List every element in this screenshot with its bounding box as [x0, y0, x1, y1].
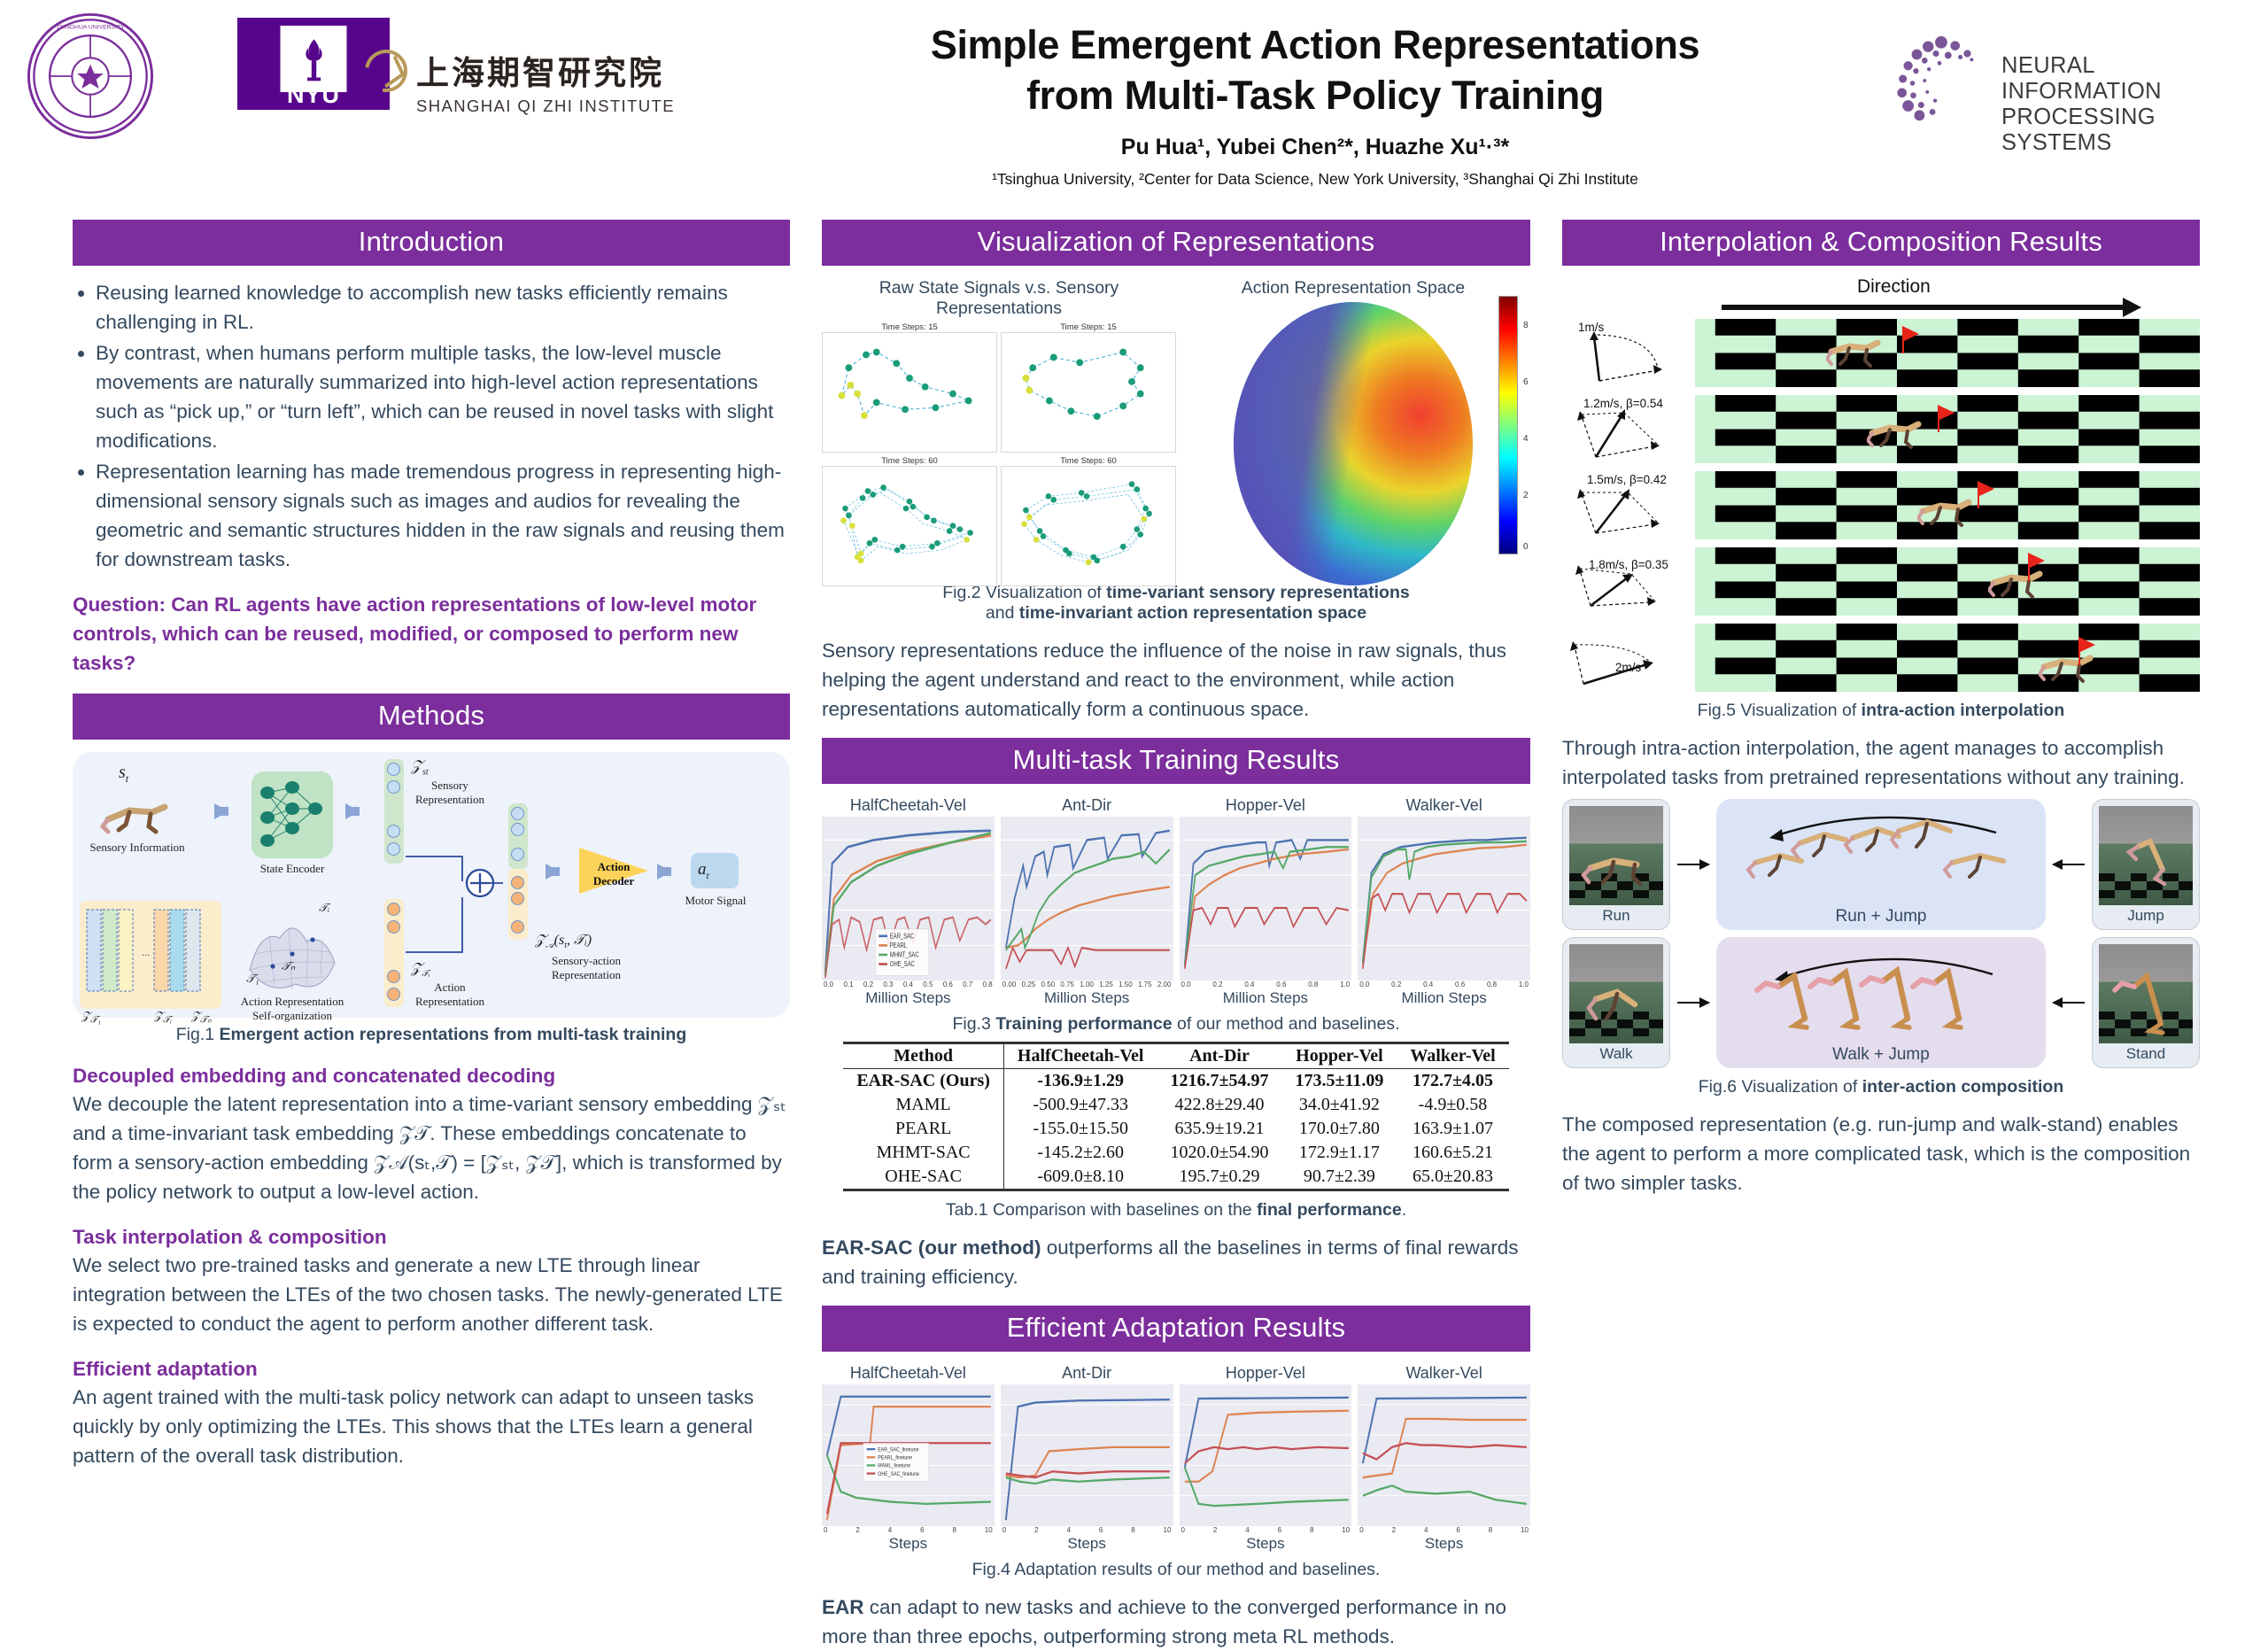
research-question: Question: Can RL agents have action repr…: [73, 590, 790, 678]
composition-arrow-right: [1677, 1002, 1709, 1004]
fig3-chart-row: HalfCheetah-Vel: [822, 796, 1530, 1007]
cheetah-icon: [99, 789, 175, 835]
composition-arrow-left: [2053, 864, 2085, 865]
interpolation-row: 1.2m/s, β=0.54: [1562, 395, 2200, 463]
affiliation-list: ¹Tsinghua University, ²Center for Data S…: [797, 170, 1833, 189]
cheetah-scene: [1695, 319, 2200, 387]
cell-value: -136.9±1.29: [1003, 1069, 1157, 1094]
section-heading-multitask: Multi-task Training Results: [822, 738, 1530, 784]
tick: 10: [985, 1526, 993, 1534]
fig1-state-label: st: [119, 763, 128, 786]
mini-plot-title: Time Steps: 15: [822, 322, 997, 332]
cell-method: OHE-SAC: [843, 1165, 1003, 1190]
tick: 0.8: [1308, 981, 1318, 988]
colorbar-tick: 0: [1523, 542, 1529, 552]
composition-label: Jump: [2099, 907, 2193, 925]
fig1-z-ti-label: 𝒵𝒯ᵢ: [154, 1009, 172, 1027]
interpolation-row: 1.8m/s, β=0.35: [1562, 547, 2200, 616]
mini-plot: [1001, 466, 1176, 586]
tick: 0: [1181, 1526, 1185, 1534]
fig3-panel-title: Hopper-Vel: [1180, 796, 1352, 815]
subsection-title-interpolation: Task interpolation & composition: [73, 1226, 790, 1249]
fig4-chart-row: HalfCheetah-Vel: [822, 1364, 1530, 1553]
introduction-bullets: Reusing learned knowledge to accomplish …: [73, 278, 790, 574]
velocity-label: 1.5m/s, β=0.42: [1587, 473, 1667, 486]
fig1-manifold-icon: [243, 908, 342, 1004]
neurips-line2: PROCESSING SYSTEMS: [2001, 105, 2241, 156]
fig3-xticks: 0.00 0.25 0.50 0.75 1.00 1.25 1.50 1.75 …: [1001, 981, 1173, 988]
tick: 6: [920, 1526, 924, 1534]
tick: 10: [1164, 1526, 1172, 1534]
neurips-wordmark: NEURAL INFORMATION PROCESSING SYSTEMS: [2001, 53, 2241, 156]
jump-thumbnail: [2099, 806, 2193, 905]
neurips-swirl-icon: [1886, 28, 1993, 133]
fig1-tn-label: 𝒯ₙ: [282, 959, 295, 973]
tick: 0: [824, 1526, 827, 1534]
tick: 0.0: [1359, 981, 1369, 988]
author-list: Pu Hua¹, Yubei Chen²*, Huazhe Xu¹·³*: [797, 135, 1833, 160]
cell-value: 170.0±7.80: [1281, 1117, 1397, 1141]
action-representation-sphere: [1234, 302, 1473, 585]
adaptation-paragraph-rest: can adapt to new tasks and achieve to th…: [822, 1596, 1506, 1647]
composition-row: Walk: [1562, 937, 2200, 1068]
svg-text:MHMT_SAC: MHMT_SAC: [890, 952, 919, 959]
fig1-caption-bold: Emergent action representations from mul…: [220, 1025, 687, 1044]
tick: 6: [1456, 1526, 1459, 1534]
tick: 4: [1245, 1526, 1249, 1534]
section-heading-introduction: Introduction: [73, 220, 790, 266]
tick: 10: [1521, 1526, 1529, 1534]
poster-header: · TSINGHUA UNIVERSITY · NYU 上海期智研究院 SHAN…: [0, 0, 2268, 220]
goal-flag-icon: [1938, 405, 1955, 421]
tab1-caption: Tab.1 Comparison with baselines on the f…: [822, 1200, 1530, 1221]
cell-value: 172.9±1.17: [1281, 1141, 1397, 1165]
tab1-caption-suffix: .: [1402, 1200, 1406, 1220]
interpolation-row: 1m/s: [1562, 319, 2200, 387]
visualization-paragraph: Sensory representations reduce the influ…: [822, 636, 1530, 724]
mini-plot-title: Time Steps: 60: [1001, 456, 1176, 466]
velocity-vector-diagram: 1.5m/s, β=0.42: [1562, 471, 1695, 539]
svg-text:EAR_SAC_finetune: EAR_SAC_finetune: [878, 1447, 918, 1453]
fig5-caption-bold: intra-action interpolation: [1862, 701, 2065, 720]
tick: 2: [1034, 1526, 1038, 1534]
tick: 0.2: [1391, 981, 1401, 988]
fig3-xticks: 0.0 0.2 0.4 0.6 0.8 1.0: [1180, 981, 1352, 988]
cell-value: -155.0±15.50: [1003, 1117, 1157, 1141]
fig3-panel-title: Walker-Vel: [1358, 796, 1530, 815]
vector-arc-icon: [1562, 624, 1695, 692]
fig1-z-st-label: 𝒵st: [411, 757, 429, 777]
tick: 4: [1424, 1526, 1428, 1534]
fig3-panel-title: HalfCheetah-Vel: [822, 796, 995, 815]
cell-value: 1020.0±54.90: [1157, 1141, 1281, 1165]
cheetah-stand-icon: [2099, 944, 2193, 1043]
adaptation-paragraph-bold: EAR: [822, 1596, 864, 1618]
tick: 0.6: [1455, 981, 1465, 988]
fig4-plot: [1358, 1384, 1530, 1526]
fig4-xlabel: Steps: [822, 1535, 995, 1553]
cell-value: 163.9±1.07: [1397, 1117, 1508, 1141]
subsection-title-decoupled: Decoupled embedding and concatenated dec…: [73, 1065, 790, 1088]
fig6-caption-prefix: Fig.6 Visualization of: [1699, 1077, 1862, 1097]
fig4-panel-title: Walker-Vel: [1358, 1364, 1530, 1383]
tick: 1.0: [1340, 981, 1350, 988]
fig1-architecture-diagram: st Sensory Information: [73, 752, 790, 1018]
mini-plot-title: Time Steps: 60: [822, 456, 997, 466]
composition-source-stand: Stand: [2092, 937, 2200, 1068]
col-method: Method: [843, 1043, 1003, 1069]
cell-value: 65.0±20.83: [1397, 1165, 1508, 1190]
cell-value: 422.8±29.40: [1157, 1093, 1281, 1117]
colorbar-tick: 2: [1523, 491, 1529, 500]
cell-value: 173.5±11.09: [1281, 1069, 1397, 1094]
multitask-paragraph: EAR-SAC (our method) outperforms all the…: [822, 1233, 1530, 1291]
tick: 0.4: [1423, 981, 1433, 988]
tick: 6: [1099, 1526, 1103, 1534]
fig2-caption-bold2: time-invariant action representation spa…: [1019, 603, 1366, 623]
subsection-body-adaptation: An agent trained with the multi-task pol…: [73, 1383, 790, 1470]
fig4-xlabel: Steps: [1001, 1535, 1173, 1553]
table-row: MAML -500.9±47.33 422.8±29.40 34.0±41.92…: [843, 1093, 1508, 1117]
fig5-caption: Fig.5 Visualization of intra-action inte…: [1562, 701, 2200, 721]
fig1-sensory-action-label: Sensory-actionRepresentation: [533, 954, 639, 982]
fig3-plot: [1180, 817, 1352, 981]
fig4-panel-title: Hopper-Vel: [1180, 1364, 1352, 1383]
col-antdir: Ant-Dir: [1157, 1043, 1281, 1069]
column-middle: Visualization of Representations Raw Sta…: [822, 220, 1530, 1512]
subsection-body-interpolation: We select two pre-trained tasks and gene…: [73, 1251, 790, 1338]
composition-label: Run: [1569, 907, 1663, 925]
fig3-xticks: 0.0 0.2 0.4 0.6 0.8 1.0: [1358, 981, 1530, 988]
fig3-caption-prefix: Fig.3: [952, 1014, 995, 1034]
composition-source-walk: Walk: [1562, 937, 1670, 1068]
mini-plot-wrapper: Time Steps: 60: [822, 456, 997, 586]
goal-flag-icon: [1902, 326, 1919, 342]
tick: 1.50: [1119, 981, 1133, 988]
fig4-plot: EAR_SAC_finetunePEARL_finetune MAML_fine…: [822, 1384, 995, 1526]
fig1-motor-signal-label: Motor Signal: [680, 894, 751, 908]
fig4-xticks: 0 2 4 6 8 10: [822, 1526, 995, 1534]
composition-result-run-jump: Run + Jump: [1716, 799, 2046, 930]
sphere-colorbar: [1498, 296, 1518, 554]
fig6-caption-bold: inter-action composition: [1862, 1077, 2064, 1097]
interpolation-row: 2m/s: [1562, 624, 2200, 692]
tick: 0: [1359, 1526, 1363, 1534]
tick: 0.7: [963, 981, 972, 988]
velocity-label: 1.2m/s, β=0.54: [1583, 397, 1663, 410]
table-header-row: Method HalfCheetah-Vel Ant-Dir Hopper-Ve…: [843, 1043, 1508, 1069]
checkerboard-icon: [1695, 624, 2200, 692]
poster-title-line1: Simple Emergent Action Representations: [797, 19, 1833, 70]
fig1-task-embeddings-icon: ...: [80, 901, 221, 1009]
section-heading-visualization: Visualization of Representations: [822, 220, 1530, 266]
cheetah-run-icon: [1569, 806, 1663, 905]
cell-value: 90.7±2.39: [1281, 1165, 1397, 1190]
tick: 2: [1213, 1526, 1217, 1534]
tick: 2: [1392, 1526, 1396, 1534]
poster-body: Introduction Reusing learned knowledge t…: [0, 220, 2268, 1512]
fig2-left-panel: Raw State Signals v.s. Sensory Represent…: [822, 278, 1176, 570]
tick: 4: [888, 1526, 892, 1534]
cheetah-icon: [1867, 421, 1922, 451]
fig3-plot: [1358, 817, 1530, 981]
tick: 8: [1489, 1526, 1492, 1534]
fig2-mini-plot-grid: Time Steps: 15: [822, 322, 1176, 586]
cell-value: -4.9±0.58: [1397, 1093, 1508, 1117]
tick: 0.0: [824, 981, 833, 988]
fig3-xlabel: Million Steps: [822, 989, 995, 1007]
fig3-xlabel: Million Steps: [1358, 989, 1530, 1007]
mini-plot-title: Time Steps: 15: [1001, 322, 1176, 332]
tick: 0.0: [1181, 981, 1191, 988]
svg-text:...: ...: [142, 948, 150, 958]
fig6-composition-grid: Run: [1562, 799, 2200, 1068]
tick: 0.2: [863, 981, 873, 988]
velocity-label: 2m/s: [1615, 661, 1641, 674]
fig4-plot: [1180, 1384, 1352, 1526]
fig3-xticks: 0.0 0.1 0.2 0.3 0.4 0.5 0.6 0.7 0.8: [822, 981, 995, 988]
mini-plot-wrapper: Time Steps: 15: [822, 322, 997, 453]
cheetah-icon: [1826, 339, 1881, 369]
stand-thumbnail: [2099, 944, 2193, 1043]
tick: 0.6: [943, 981, 953, 988]
fig2-right-panel: Action Representation Space 8 6 4 2 0: [1185, 278, 1521, 570]
fig1-z-a-label: 𝒵𝒜(st, 𝒯ᵢ): [535, 933, 592, 950]
composition-label: Walk + Jump: [1716, 1045, 2046, 1065]
cell-value: 34.0±41.92: [1281, 1093, 1397, 1117]
tick: 8: [1131, 1526, 1134, 1534]
fig1-sensory-representation-label: SensoryRepresentation: [407, 779, 492, 807]
cheetah-icon: [2039, 655, 2094, 685]
fig3-panel: Walker-Vel 0.0 0.2: [1358, 796, 1530, 1007]
table-row: OHE-SAC -609.0±8.10 195.7±0.29 90.7±2.39…: [843, 1165, 1508, 1190]
fig1-sensory-information-label: Sensory Information: [80, 841, 195, 855]
fig2-caption: Fig.2 Visualization of time-variant sens…: [822, 583, 1530, 624]
list-item: Reusing learned knowledge to accomplish …: [96, 278, 790, 337]
fig6-caption: Fig.6 Visualization of inter-action comp…: [1562, 1077, 2200, 1097]
tsinghua-logo: · TSINGHUA UNIVERSITY ·: [25, 11, 156, 142]
mini-plot: [1001, 332, 1176, 453]
cell-value: -500.9±47.33: [1003, 1093, 1157, 1117]
fig3-xlabel: Million Steps: [1001, 989, 1173, 1007]
svg-text:EAR_SAC: EAR_SAC: [890, 934, 914, 941]
composition-label: Stand: [2099, 1045, 2193, 1063]
cheetah-scene: [1695, 395, 2200, 463]
poster-title-line2: from Multi-Task Policy Training: [797, 70, 1833, 120]
tick: 8: [952, 1526, 956, 1534]
composition-label: Run + Jump: [1716, 907, 2046, 926]
velocity-vector-diagram: 1.2m/s, β=0.54: [1562, 395, 1695, 463]
tick: 0.8: [983, 981, 993, 988]
fig3-panel-title: Ant-Dir: [1001, 796, 1173, 815]
fig1-mlp-icon: [252, 771, 333, 858]
fig1-ti-label: 𝒯ᵢ: [319, 901, 329, 915]
svg-text:OHE_SAC_finetune: OHE_SAC_finetune: [878, 1472, 919, 1477]
composition-arrow-left: [2053, 1002, 2085, 1004]
tick: 0.3: [883, 981, 893, 988]
tick: 8: [1310, 1526, 1313, 1534]
cell-value: 172.7±4.05: [1397, 1069, 1508, 1094]
fig3-plot: [1001, 817, 1173, 981]
walk-thumbnail: [1569, 944, 1663, 1043]
tick: 0.00: [1002, 981, 1017, 988]
shanghai-qi-zhi-logo: 上海期智研究院 SHANGHAI QI ZHI INSTITUTE: [416, 46, 770, 110]
fig3-plot: EAR_SACPEARL MHMT_SACOHE_SAC: [822, 817, 995, 981]
fig1-connector-lines-icon: [404, 805, 510, 1000]
fig4-panel-title: Ant-Dir: [1001, 1364, 1173, 1383]
sphere-colorbar-labels: 8 6 4 2 0: [1523, 296, 1541, 554]
tick: 1.0: [1519, 981, 1529, 988]
table-body: EAR-SAC (Ours) -136.9±1.29 1216.7±54.97 …: [843, 1069, 1508, 1190]
tick: 0.6: [1276, 981, 1286, 988]
fig1-t1-label: 𝒯₁: [246, 972, 259, 986]
list-item: Representation learning has made tremend…: [96, 457, 790, 574]
cell-method: PEARL: [843, 1117, 1003, 1141]
interpolation-paragraph: Through intra-action interpolation, the …: [1562, 733, 2200, 792]
mini-plot: [822, 332, 997, 453]
composition-arrow-right: [1677, 864, 1709, 865]
checkerboard-icon: [1695, 547, 2200, 616]
colorbar-tick: 4: [1523, 434, 1529, 444]
tick: 4: [1066, 1526, 1070, 1534]
fig3-caption-bold: Training performance: [995, 1014, 1172, 1034]
svg-text:· TSINGHUA UNIVERSITY ·: · TSINGHUA UNIVERSITY ·: [52, 25, 128, 31]
checkerboard-icon: [1695, 319, 2200, 387]
fig4-xlabel: Steps: [1180, 1535, 1352, 1553]
fig2-right-title: Action Representation Space: [1185, 278, 1521, 298]
cheetah-icon: [1917, 499, 1972, 529]
composition-result-walk-jump: Walk + Jump: [1716, 937, 2046, 1068]
tick: 0: [1002, 1526, 1006, 1534]
cheetah-scene: [1695, 547, 2200, 616]
list-item: By contrast, when humans perform multipl…: [96, 338, 790, 455]
fig4-panel-title: HalfCheetah-Vel: [822, 1364, 995, 1383]
fig4-xticks: 0 2 4 6 8 10: [1001, 1526, 1173, 1534]
direction-arrow-icon: [1722, 305, 2124, 310]
fig4-panel: Walker-Vel 0 2: [1358, 1364, 1530, 1553]
fig1-arrow-1: [214, 803, 228, 819]
fig1-action-decoder-label: ActionDecoder: [584, 860, 643, 888]
table-row: EAR-SAC (Ours) -136.9±1.29 1216.7±54.97 …: [843, 1069, 1508, 1094]
col-halfcheetah: HalfCheetah-Vel: [1003, 1043, 1157, 1069]
cheetah-walk-icon: [1569, 944, 1663, 1043]
title-block: Simple Emergent Action Representations f…: [797, 19, 1833, 189]
svg-text:MAML_finetune: MAML_finetune: [878, 1463, 910, 1469]
tick: 2.00: [1157, 981, 1172, 988]
direction-indicator: Direction: [1562, 278, 2200, 319]
section-heading-adaptation: Efficient Adaptation Results: [822, 1306, 1530, 1352]
fig4-panel: Hopper-Vel 0 2: [1180, 1364, 1352, 1553]
tick: 0.4: [903, 981, 913, 988]
fig1-caption: Fig.1 Emergent action representations fr…: [73, 1025, 790, 1045]
fig1-z-tn-label: 𝒵𝒯ₙ: [191, 1009, 212, 1027]
adaptation-paragraph: EAR can adapt to new tasks and achieve t…: [822, 1593, 1530, 1651]
mini-plot: [822, 466, 997, 586]
sqz-chinese-name: 上海期智研究院: [416, 46, 770, 94]
tab1-caption-prefix: Tab.1 Comparison with baselines on the: [946, 1200, 1257, 1220]
velocity-label: 1m/s: [1578, 321, 1604, 334]
run-jump-trajectory-icon: [1716, 799, 2046, 903]
tick: 1.75: [1138, 981, 1152, 988]
fig3-panel: Hopper-Vel 0.0 0.2: [1180, 796, 1352, 1007]
cheetah-scene: [1695, 624, 2200, 692]
fig3-caption: Fig.3 Training performance of our method…: [822, 1014, 1530, 1035]
table-head: Method HalfCheetah-Vel Ant-Dir Hopper-Ve…: [843, 1043, 1508, 1069]
goal-flag-icon: [2028, 553, 2045, 569]
velocity-vector-diagram: 1m/s: [1562, 319, 1695, 387]
tick: 0.8: [1487, 981, 1497, 988]
tick: 2: [855, 1526, 859, 1534]
composition-source-run: Run: [1562, 799, 1670, 930]
fig1-arrow-3: [546, 864, 560, 880]
cell-method: EAR-SAC (Ours): [843, 1069, 1003, 1094]
fig1-z-t1-label: 𝒵𝒯₁: [81, 1009, 101, 1027]
svg-text:PEARL: PEARL: [890, 942, 907, 950]
tab1-caption-bold: final performance: [1257, 1200, 1402, 1220]
column-left: Introduction Reusing learned knowledge t…: [73, 220, 790, 1512]
subsection-body-decoupled: We decouple the latent representation in…: [73, 1089, 790, 1206]
composition-label: Walk: [1569, 1045, 1663, 1063]
direction-label: Direction: [1857, 276, 1931, 298]
fig4-xticks: 0 2 4 6 8 10: [1358, 1526, 1530, 1534]
fig1-selforg-label: Action RepresentationSelf-organization: [234, 995, 351, 1023]
tick: 0.25: [1022, 981, 1036, 988]
fig3-xlabel: Million Steps: [1180, 989, 1352, 1007]
sqz-english-name: SHANGHAI QI ZHI INSTITUTE: [416, 97, 770, 116]
fig1-at-label: at: [698, 860, 709, 881]
composition-source-jump: Jump: [2092, 799, 2200, 930]
fig4-xlabel: Steps: [1358, 1535, 1530, 1553]
tick: 6: [1278, 1526, 1281, 1534]
tick: 0.50: [1041, 981, 1056, 988]
walk-jump-trajectory-icon: [1716, 937, 2046, 1042]
col-walker: Walker-Vel: [1397, 1043, 1508, 1069]
fig3-caption-suffix: of our method and baselines.: [1173, 1014, 1400, 1034]
velocity-vector-diagram: 1.8m/s, β=0.35: [1562, 547, 1695, 616]
fig4-caption: Fig.4 Adaptation results of our method a…: [822, 1560, 1530, 1580]
tick: 0.2: [1212, 981, 1222, 988]
column-right: Interpolation & Composition Results Dire…: [1562, 220, 2200, 1512]
neurips-logo: NEURAL INFORMATION PROCESSING SYSTEMS: [1886, 28, 2241, 133]
fig1-arrow-4: [657, 864, 671, 880]
colorbar-tick: 6: [1523, 377, 1529, 387]
fig5-caption-prefix: Fig.5 Visualization of: [1698, 701, 1862, 720]
cheetah-icon: [1988, 570, 2043, 601]
col-hopper: Hopper-Vel: [1281, 1043, 1397, 1069]
colorbar-tick: 8: [1523, 321, 1529, 330]
fig4-plot: [1001, 1384, 1173, 1526]
velocity-vector-diagram: 2m/s: [1562, 624, 1695, 692]
velocity-label: 1.8m/s, β=0.35: [1589, 558, 1668, 571]
subsection-title-adaptation: Efficient adaptation: [73, 1358, 790, 1381]
interpolation-row: 1.5m/s, β=0.42: [1562, 471, 2200, 539]
composition-paragraph: The composed representation (e.g. run-ju…: [1562, 1110, 2200, 1198]
cell-method: MHMT-SAC: [843, 1141, 1003, 1165]
fig3-panel: Ant-Dir 0.00 0.25: [1001, 796, 1173, 1007]
goal-flag-icon: [2078, 637, 2095, 653]
fig4-panel: Ant-Dir 0 2 4: [1001, 1364, 1173, 1553]
tick: 10: [1342, 1526, 1350, 1534]
cell-value: 160.6±5.21: [1397, 1141, 1508, 1165]
multitask-paragraph-bold: EAR-SAC (our method): [822, 1236, 1041, 1259]
cell-method: MAML: [843, 1093, 1003, 1117]
table-row: PEARL -155.0±15.50 635.9±19.21 170.0±7.8…: [843, 1117, 1508, 1141]
table-row: MHMT-SAC -145.2±2.60 1020.0±54.90 172.9±…: [843, 1141, 1508, 1165]
section-heading-interpolation: Interpolation & Composition Results: [1562, 220, 2200, 266]
fig1-caption-prefix: Fig.1: [176, 1025, 220, 1044]
svg-text:OHE_SAC: OHE_SAC: [890, 961, 915, 968]
fig2-visualization: Raw State Signals v.s. Sensory Represent…: [822, 278, 1530, 570]
